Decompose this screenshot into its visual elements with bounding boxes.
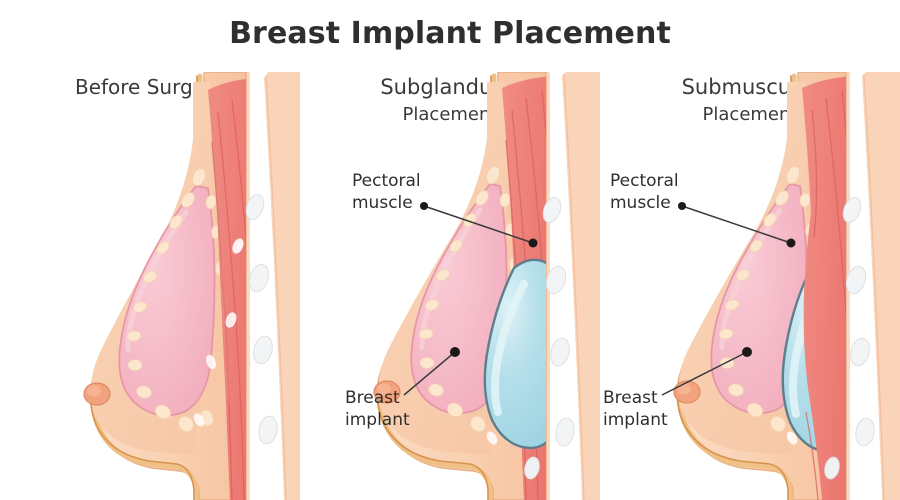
panel-submuscular-placement: Submuscular Placement	[600, 72, 900, 500]
breast-anatomy-subglandular	[300, 72, 600, 500]
nipple	[84, 383, 110, 405]
callout-label-breast-implant: Breast implant	[603, 387, 668, 431]
infographic-canvas: Breast Implant Placement Before Surgery	[0, 0, 900, 500]
panel-subglandular-placement: Subglandular Placement	[300, 72, 600, 500]
callout-label-pectoral-muscle: Pectoral muscle	[352, 170, 421, 214]
callout-label-breast-implant: Breast implant	[345, 387, 410, 431]
panel-before-surgery: Before Surgery	[0, 72, 300, 500]
page-title: Breast Implant Placement	[0, 16, 900, 51]
nipple	[674, 381, 700, 403]
callout-label-pectoral-muscle: Pectoral muscle	[610, 170, 679, 214]
breast-anatomy-submuscular	[600, 72, 900, 500]
breast-anatomy-before-surgery	[0, 72, 300, 500]
mammary-gland	[119, 186, 214, 415]
